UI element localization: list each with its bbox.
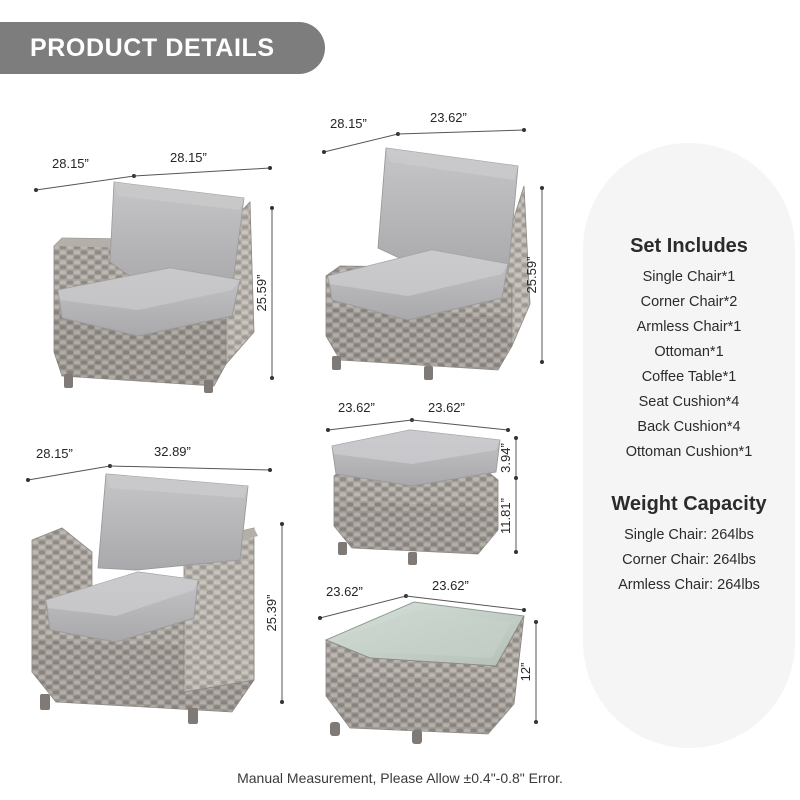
list-item: Armless Chair*1 <box>626 315 753 340</box>
dim-table-side: 23.62” <box>326 584 363 599</box>
figure-corner-chair: 28.15” 28.15” 25.59” <box>18 140 288 400</box>
list-item: Single Chair*1 <box>626 265 753 290</box>
list-item: Corner Chair: 264lbs <box>618 548 760 573</box>
dim-ottoman-side: 23.62” <box>338 400 375 415</box>
dim-ottoman-height: 11.81” <box>498 498 513 534</box>
dim-corner-side: 28.15” <box>52 156 89 171</box>
list-item: Ottoman*1 <box>626 340 753 365</box>
list-item: Coffee Table*1 <box>626 365 753 390</box>
figure-ottoman: 23.62” 23.62” 3.94” 11.81” <box>312 402 552 572</box>
footer-note: Manual Measurement, Please Allow ±0.4"-0… <box>0 770 800 786</box>
page-title: PRODUCT DETAILS <box>30 34 275 63</box>
dim-single-front: 32.89” <box>154 444 191 459</box>
figure-single-chair: 28.15” 32.89” 25.39” <box>18 440 298 730</box>
dim-ottoman-front: 23.62” <box>428 400 465 415</box>
dim-table-front: 23.62” <box>432 578 469 593</box>
list-item: Single Chair: 264lbs <box>618 523 760 548</box>
dim-corner-front: 28.15” <box>170 150 207 165</box>
list-item: Back Cushion*4 <box>626 415 753 440</box>
dim-armless-height: 25.59” <box>524 257 539 294</box>
dim-ottoman-cushion-height: 3.94” <box>498 443 513 473</box>
list-item: Armless Chair: 264lbs <box>618 573 760 598</box>
dim-single-height: 25.39” <box>264 595 279 632</box>
info-panel: Set Includes Single Chair*1 Corner Chair… <box>583 143 795 748</box>
set-includes-list: Single Chair*1 Corner Chair*2 Armless Ch… <box>626 265 753 465</box>
dim-armless-side: 28.15” <box>330 116 367 131</box>
dim-corner-height: 25.59” <box>254 275 269 312</box>
header-banner: PRODUCT DETAILS <box>0 22 325 74</box>
list-item: Corner Chair*2 <box>626 290 753 315</box>
list-item: Seat Cushion*4 <box>626 390 753 415</box>
dim-single-side: 28.15” <box>36 446 73 461</box>
dim-armless-front: 23.62” <box>430 110 467 125</box>
figure-armless-chair: 28.15” 23.62” 25.59” <box>312 108 557 378</box>
dim-table-height: 12” <box>518 663 533 682</box>
weight-capacity-heading: Weight Capacity <box>611 493 766 516</box>
list-item: Ottoman Cushion*1 <box>626 440 753 465</box>
figure-coffee-table: 23.62” 23.62” 12” <box>310 578 552 748</box>
set-includes-heading: Set Includes <box>630 235 748 258</box>
weight-capacity-list: Single Chair: 264lbs Corner Chair: 264lb… <box>618 523 760 598</box>
